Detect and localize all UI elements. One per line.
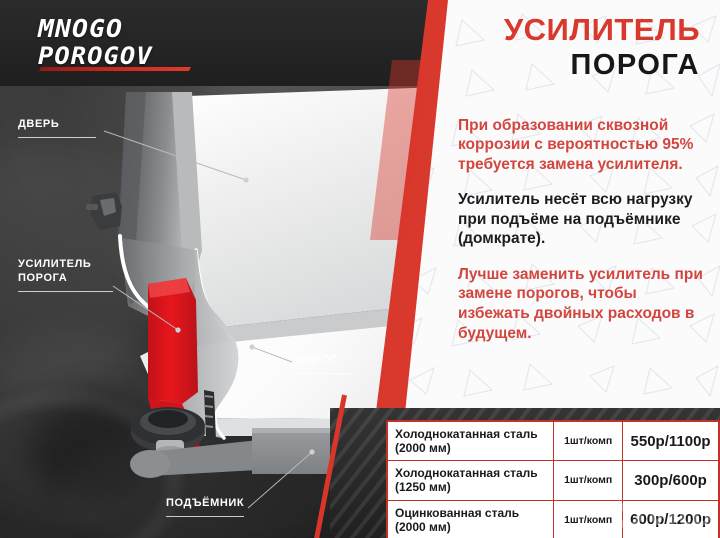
advertisement-image: MNOGO POROGOV: [0, 0, 720, 538]
cell-price: 550р/1100р: [623, 422, 718, 461]
callout-reinforcement-label-line1: УСИЛИТЕЛЬ: [18, 258, 91, 270]
avito-logo-icon: [615, 502, 642, 529]
cell-quantity: 1шт/комп: [554, 461, 623, 500]
paragraph-1: При образовании сквозной коррозии с веро…: [458, 116, 708, 175]
callout-jack: ПОДЪЁМНИК: [166, 497, 244, 517]
watermark-text: vito: [647, 498, 712, 532]
callout-door: ДВЕРЬ: [18, 118, 96, 138]
paragraph-3: Лучше заменить усилитель при замене поро…: [458, 265, 708, 344]
callout-underline: [18, 291, 113, 292]
cell-material: Холоднокатанная сталь (1250 мм): [388, 461, 554, 500]
headline-line-1: УСИЛИТЕЛЬ: [504, 14, 700, 45]
callout-reinforcement: УСИЛИТЕЛЬ ПОРОГА: [18, 258, 113, 292]
material-size: (2000 мм): [395, 520, 451, 534]
callout-sill-label: ПОРОГ: [296, 354, 337, 366]
paragraph-2: Усилитель несёт всю нагрузку при подъёме…: [458, 190, 708, 249]
cell-quantity: 1шт/комп: [554, 422, 623, 461]
callout-underline: [18, 137, 96, 138]
callout-sill: ПОРОГ: [296, 354, 352, 374]
body-copy: При образовании сквозной коррозии с веро…: [458, 100, 708, 358]
callout-door-label: ДВЕРЬ: [18, 118, 59, 130]
door-clip-shape: [86, 192, 122, 230]
cell-price: 300р/600р: [623, 461, 718, 500]
headline-line-2: ПОРОГА: [504, 51, 700, 80]
avito-watermark: vito: [615, 498, 712, 532]
table-row: Холоднокатанная сталь (1250 мм) 1шт/комп…: [388, 461, 718, 500]
material-size: (1250 мм): [395, 480, 451, 494]
material-name: Холоднокатанная сталь: [395, 466, 538, 480]
cell-material: Холоднокатанная сталь (2000 мм): [388, 422, 554, 461]
callout-underline: [296, 373, 352, 374]
callout-underline: [166, 516, 244, 517]
material-name: Оцинкованная сталь: [395, 506, 519, 520]
cell-material: Оцинкованная сталь (2000 мм): [388, 500, 554, 538]
cell-quantity: 1шт/комп: [554, 500, 623, 538]
material-size: (2000 мм): [395, 441, 451, 455]
callout-jack-label: ПОДЪЁМНИК: [166, 497, 244, 509]
headline: УСИЛИТЕЛЬ ПОРОГА: [504, 14, 700, 80]
callout-reinforcement-label-line2: ПОРОГА: [18, 272, 67, 284]
table-row: Холоднокатанная сталь (2000 мм) 1шт/комп…: [388, 422, 718, 461]
material-name: Холоднокатанная сталь: [395, 427, 538, 441]
